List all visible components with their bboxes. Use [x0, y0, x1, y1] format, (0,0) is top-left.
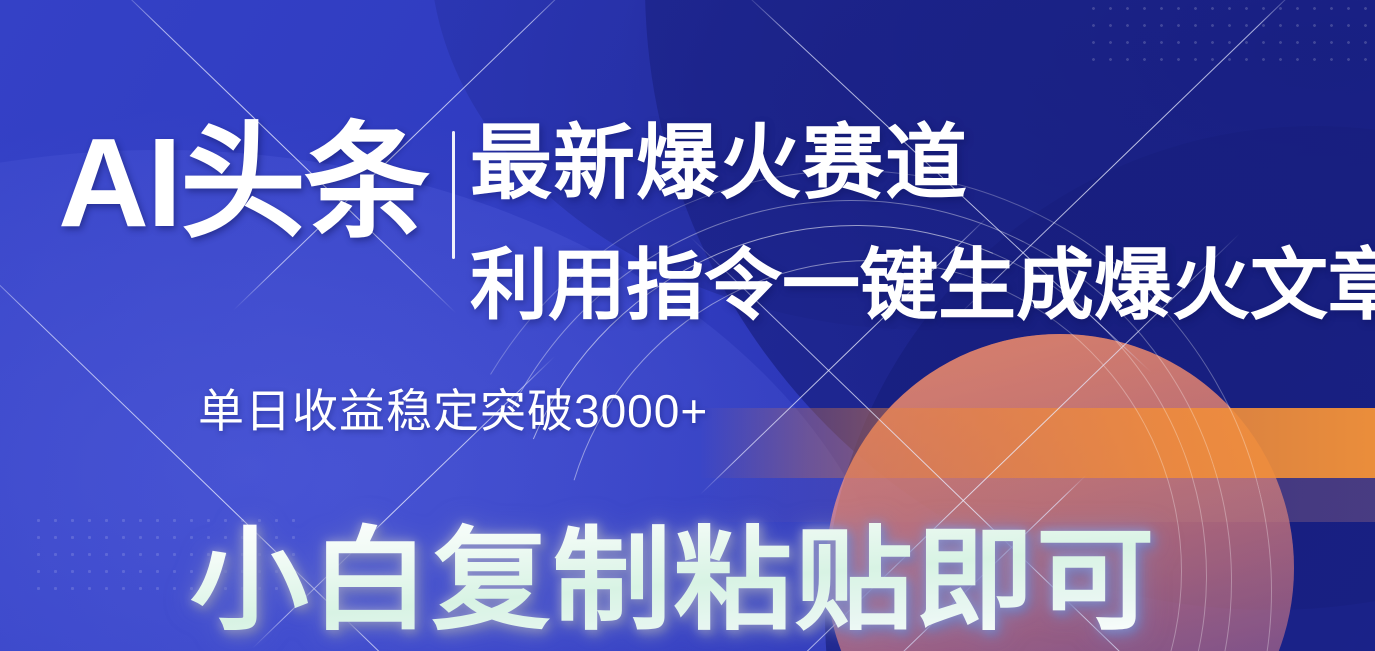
brand-title: AI头条: [58, 120, 428, 246]
headline-line-1: 最新爆火赛道: [470, 123, 968, 205]
headline-line-2: 利用指令一键生成爆火文章: [470, 246, 1375, 324]
brand-divider: [452, 131, 455, 259]
subline-earnings: 单日收益稳定突破3000+: [198, 388, 708, 434]
dot-grid-top-right: [1085, 0, 1375, 62]
orange-band-decoration: [700, 408, 1375, 478]
bottom-headline: 小白复制粘贴即可: [190, 518, 1157, 643]
promo-banner: AI头条 最新爆火赛道 利用指令一键生成爆火文章 单日收益稳定突破3000+ 小…: [0, 0, 1375, 651]
orange-band-soft-decoration: [700, 478, 1375, 522]
